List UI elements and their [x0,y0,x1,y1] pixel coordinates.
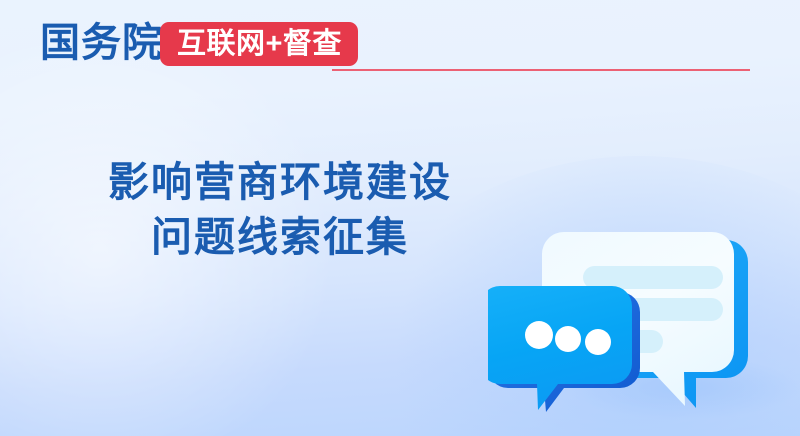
typing-dot [525,321,553,349]
typing-dot [585,329,611,355]
chat-bubbles-illustration [488,218,800,436]
brand-badge: 互联网+督查 [160,22,358,66]
brand-badge-label: 互联网+督查 [177,29,342,59]
headline-line-2: 问题线索征集 [0,210,560,265]
header-divider-rule [332,69,750,71]
headline-block: 影响营商环境建设 问题线索征集 [0,155,560,265]
bubble-text-line [583,266,723,289]
promo-banner: 国务院 互联网+督查 影响营商环境建设 问题线索征集 [0,0,800,436]
gov-logo-text: 国务院 [40,21,163,65]
banner-header: 国务院 互联网+督查 [0,0,800,96]
headline-line-1: 影响营商环境建设 [0,155,560,210]
typing-dot [555,326,581,352]
